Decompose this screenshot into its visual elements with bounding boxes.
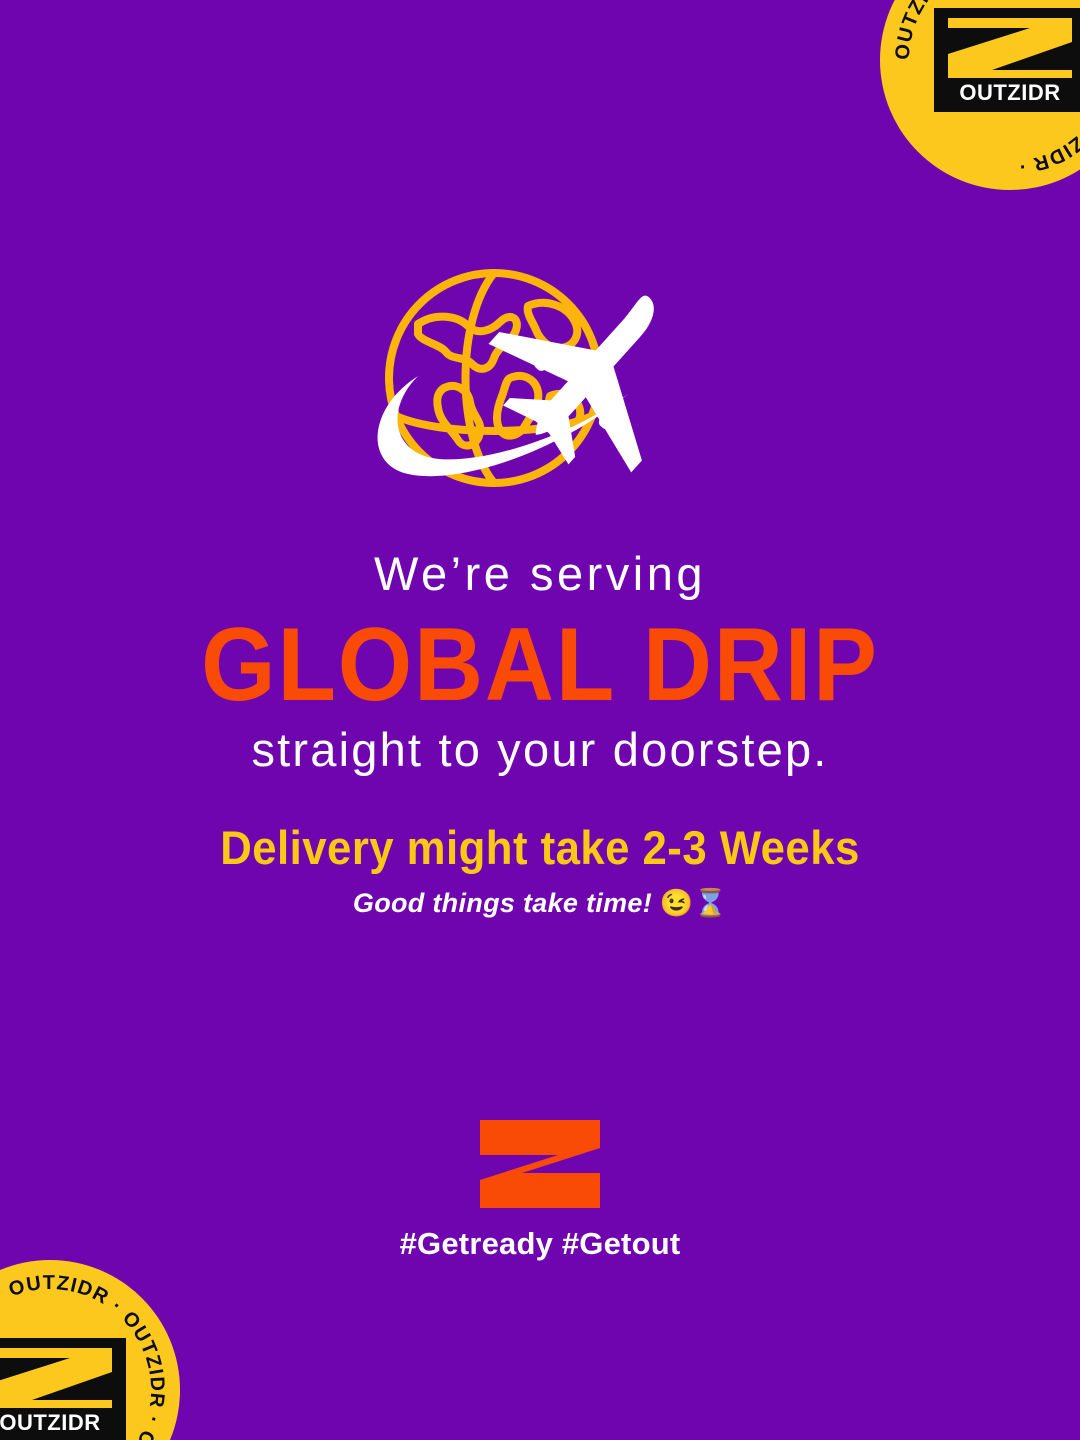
outzidr-badge-bottom-left: OUTZIDR · OUTZIDR · OUTZIDR · OUTZIDR · … (0, 1260, 180, 1440)
delivery-subtext-label: Good things take time! (353, 888, 652, 918)
globe-plane-graphic (360, 268, 720, 513)
outzidr-badge-top-right: OUTZIDR · OUTZIDR · OUTZIDR · OUTZIDR · … (880, 0, 1080, 190)
delivery-headline: Delivery might take 2-3 Weeks (38, 820, 1042, 875)
promo-poster: We’re serving GLOBAL DRIP straight to yo… (0, 0, 1080, 1440)
badge-core-top-right: OUTZIDR (934, 8, 1080, 112)
z-logo-icon (478, 1118, 602, 1210)
headline-line-1: We’re serving (0, 548, 1080, 600)
badge-z-mark-tr: OUTZIDR (934, 8, 1080, 112)
footer-block: #Getready #Getout (0, 1118, 1080, 1262)
wink-hourglass-emoji: 😉⌛ (660, 888, 727, 918)
hashtags-text: #Getready #Getout (0, 1226, 1080, 1262)
badge-core-wordmark-bl: OUTZIDR (0, 1410, 101, 1435)
hero-illustration (0, 268, 1080, 513)
headline-line-2: GLOBAL DRIP (43, 612, 1037, 718)
badge-core-wordmark-tr: OUTZIDR (959, 80, 1060, 105)
headline-block: We’re serving GLOBAL DRIP straight to yo… (0, 548, 1080, 775)
delivery-notice: Delivery might take 2-3 Weeks Good thing… (0, 820, 1080, 919)
delivery-subtext: Good things take time! 😉⌛ (0, 887, 1080, 919)
badge-core-bottom-left: OUTZIDR (0, 1338, 126, 1440)
headline-line-3: straight to your doorstep. (0, 724, 1080, 776)
badge-z-mark-bl: OUTZIDR (0, 1338, 126, 1440)
